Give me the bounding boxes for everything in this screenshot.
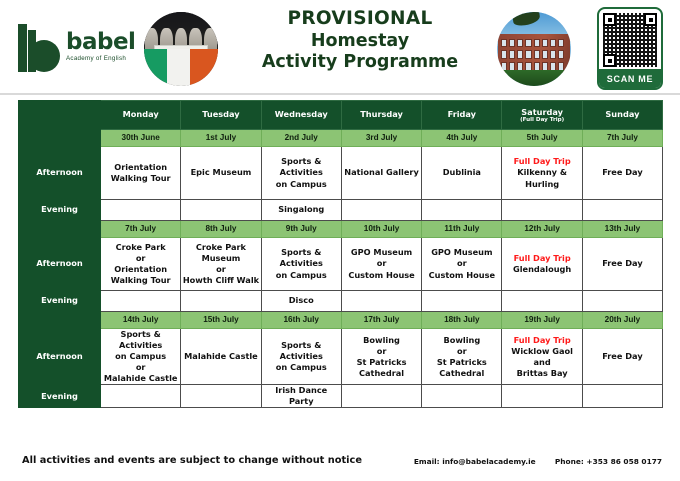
logo-name: babel [66, 30, 136, 54]
activity-cell: BowlingorSt PatricksCathedral [341, 329, 421, 385]
evening-row: EveningDisco [19, 291, 663, 312]
date-cell: 5th July [502, 130, 582, 147]
babel-logo-mark [16, 22, 66, 74]
activity-line: Orientation [101, 264, 180, 275]
date-cell: 9th July [261, 221, 341, 238]
day-label: Wednesday [275, 109, 328, 119]
day-label: Thursday [360, 109, 403, 119]
activity-line: Free Day [583, 351, 662, 362]
title-line-1: PROVISIONAL [230, 8, 490, 31]
activity-cell: Full Day TripGlendalough [502, 238, 582, 291]
activity-cell: BowlingorSt PatricksCathedral [422, 329, 502, 385]
evening-cell [502, 385, 582, 408]
day-label: Saturday [521, 107, 563, 117]
contact-info: Email: info@babelacademy.ie Phone: +353 … [414, 457, 662, 466]
date-row-spacer [19, 221, 101, 238]
activity-line: GPO Museum [422, 247, 501, 258]
day-label: Tuesday [202, 109, 239, 119]
activity-cell: Free Day [582, 329, 662, 385]
date-cell: 11th July [422, 221, 502, 238]
date-row-spacer [19, 312, 101, 329]
day-label: Friday [448, 109, 476, 119]
day-header-sunday: Sunday [582, 101, 662, 130]
activity-line: Custom House [422, 270, 501, 281]
evening-cell [341, 291, 421, 312]
table-body: 30th June1st July2nd July3rd July4th Jul… [19, 130, 663, 408]
corner-cell [19, 101, 101, 130]
date-cell: 4th July [422, 130, 502, 147]
date-cell: 17th July [341, 312, 421, 329]
babel-wordmark: babel Academy of English [66, 30, 136, 62]
afternoon-row: AfternoonCroke ParkorOrientationWalking … [19, 238, 663, 291]
date-cell: 16th July [261, 312, 341, 329]
row-label-evening: Evening [19, 291, 101, 312]
date-cell: 14th July [101, 312, 181, 329]
evening-cell [101, 291, 181, 312]
page-title: PROVISIONAL Homestay Activity Programme [230, 8, 490, 73]
page-footer: All activities and events are subject to… [0, 452, 680, 478]
day-label: Sunday [605, 109, 639, 119]
activity-cell: Full Day TripKilkenny &Hurling [502, 147, 582, 200]
activity-cell: Malahide Castle [181, 329, 261, 385]
activity-line: Epic Museum [181, 167, 260, 178]
evening-cell [582, 200, 662, 221]
evening-cell [422, 291, 502, 312]
evening-cell [101, 200, 181, 221]
activity-cell: GPO MuseumorCustom House [422, 238, 502, 291]
qr-finder-top-left-icon [603, 13, 616, 26]
activity-line: Glendalough [502, 264, 581, 275]
evening-cell [422, 385, 502, 408]
day-header-monday: Monday [101, 101, 181, 130]
activity-line: on Campus [262, 362, 341, 373]
evening-cell [582, 291, 662, 312]
header-divider [0, 93, 680, 95]
activity-line: Custom House [342, 270, 421, 281]
activity-line: or [422, 346, 501, 357]
activity-cell: Free Day [582, 238, 662, 291]
date-cell: 30th June [101, 130, 181, 147]
evening-cell [582, 385, 662, 408]
evening-cell [341, 385, 421, 408]
building-photo [497, 12, 571, 86]
disclaimer-text: All activities and events are subject to… [22, 455, 362, 466]
activity-line: Croke Park [101, 242, 180, 253]
homestay-activity-programme-page: babel Academy of English PROVISIONAL Hom… [0, 0, 680, 481]
afternoon-row: AfternoonSports & Activitieson CampusorM… [19, 329, 663, 385]
activity-line: or [342, 258, 421, 269]
day-sublabel: (Full Day Trip) [502, 117, 581, 123]
activity-line: on Campus [262, 270, 341, 281]
evening-cell: Singalong [261, 200, 341, 221]
activity-line: Brittas Bay [502, 368, 581, 379]
day-label: Monday [123, 109, 159, 119]
activity-cell: Croke ParkMuseumorHowth Cliff Walk [181, 238, 261, 291]
page-header: babel Academy of English PROVISIONAL Hom… [0, 0, 680, 96]
date-row-spacer [19, 130, 101, 147]
activity-cell: Sports & Activitieson Campus [261, 238, 341, 291]
evening-cell [502, 291, 582, 312]
date-cell: 3rd July [341, 130, 421, 147]
activity-cell: Free Day [582, 147, 662, 200]
evening-cell [341, 200, 421, 221]
students-photo [144, 12, 218, 86]
day-header-wednesday: Wednesday [261, 101, 341, 130]
title-line-3: Activity Programme [230, 52, 490, 73]
activity-line: or [342, 346, 421, 357]
activity-line: National Gallery [342, 167, 421, 178]
activity-line: Sports & Activities [262, 156, 341, 178]
activity-line: St Patricks [422, 357, 501, 368]
date-cell: 2nd July [261, 130, 341, 147]
row-label-evening: Evening [19, 200, 101, 221]
date-cell: 12th July [502, 221, 582, 238]
contact-phone[interactable]: Phone: +353 86 058 0177 [555, 457, 662, 466]
date-cell: 1st July [181, 130, 261, 147]
activity-line: St Patricks [342, 357, 421, 368]
date-cell: 10th July [341, 221, 421, 238]
date-cell: 18th July [422, 312, 502, 329]
activity-line: on Campus [101, 351, 180, 362]
activity-line: Museum [181, 253, 260, 264]
activity-line: or [101, 253, 180, 264]
activity-cell: Dublinia [422, 147, 502, 200]
evening-cell [181, 385, 261, 408]
activity-cell: GPO MuseumorCustom House [341, 238, 421, 291]
activity-line: Bowling [422, 335, 501, 346]
activity-line: Kilkenny & [502, 167, 581, 178]
activity-line: on Campus [262, 179, 341, 190]
full-day-trip-label: Full Day Trip [502, 156, 581, 167]
date-row: 14th July15th July16th July17th July18th… [19, 312, 663, 329]
qr-code-badge[interactable]: SCAN ME [597, 7, 663, 90]
activity-cell: Epic Museum [181, 147, 261, 200]
row-label-evening: Evening [19, 385, 101, 408]
date-cell: 20th July [582, 312, 662, 329]
activity-cell: National Gallery [341, 147, 421, 200]
day-header-thursday: Thursday [341, 101, 421, 130]
date-row: 30th June1st July2nd July3rd July4th Jul… [19, 130, 663, 147]
activity-line: Malahide Castle [101, 373, 180, 384]
qr-finder-top-right-icon [644, 13, 657, 26]
activity-line: Walking Tour [101, 275, 180, 286]
evening-cell [181, 291, 261, 312]
activity-cell: Croke ParkorOrientationWalking Tour [101, 238, 181, 291]
activity-line: Malahide Castle [181, 351, 260, 362]
day-header-row: Monday Tuesday Wednesday Thursday Friday [19, 101, 663, 130]
activity-cell: Sports & Activitieson CampusorMalahide C… [101, 329, 181, 385]
activity-line: Cathedral [422, 368, 501, 379]
activity-cell: Sports & Activitieson Campus [261, 329, 341, 385]
date-row: 7th July8th July9th July10th July11th Ju… [19, 221, 663, 238]
evening-cell [422, 200, 502, 221]
evening-cell [181, 200, 261, 221]
activity-line: Sports & Activities [262, 247, 341, 269]
activity-line: Dublinia [422, 167, 501, 178]
day-header-tuesday: Tuesday [181, 101, 261, 130]
activity-line: Sports & Activities [262, 340, 341, 362]
activity-cell: Full Day TripWicklow Gaol andBrittas Bay [502, 329, 582, 385]
evening-cell [101, 385, 181, 408]
activity-line: Hurling [502, 179, 581, 190]
schedule-table-wrapper: Monday Tuesday Wednesday Thursday Friday [18, 100, 662, 408]
activity-line: Free Day [583, 258, 662, 269]
logo-tagline: Academy of English [66, 55, 136, 62]
title-line-2: Homestay [230, 31, 490, 52]
day-header-friday: Friday [422, 101, 502, 130]
activity-line: Sports & Activities [101, 329, 180, 351]
afternoon-row: AfternoonOrientationWalking TourEpic Mus… [19, 147, 663, 200]
row-label-afternoon: Afternoon [19, 238, 101, 291]
activity-line: or [422, 258, 501, 269]
activity-cell: Sports & Activitieson Campus [261, 147, 341, 200]
table-head: Monday Tuesday Wednesday Thursday Friday [19, 101, 663, 130]
full-day-trip-label: Full Day Trip [502, 335, 581, 346]
activity-schedule-table: Monday Tuesday Wednesday Thursday Friday [18, 100, 663, 408]
full-day-trip-label: Full Day Trip [502, 253, 581, 264]
activity-line: or [101, 362, 180, 373]
activity-line: or [181, 264, 260, 275]
activity-line: Bowling [342, 335, 421, 346]
activity-line: Wicklow Gaol and [502, 346, 581, 368]
date-cell: 7th July [582, 130, 662, 147]
evening-cell [502, 200, 582, 221]
activity-line: Walking Tour [101, 173, 180, 184]
qr-scan-me-label: SCAN ME [599, 69, 661, 88]
date-cell: 13th July [582, 221, 662, 238]
contact-email[interactable]: Email: info@babelacademy.ie [414, 457, 536, 466]
qr-finder-bottom-left-icon [603, 54, 616, 67]
evening-cell: Irish Dance Party [261, 385, 341, 408]
row-label-afternoon: Afternoon [19, 329, 101, 385]
activity-line: Croke Park [181, 242, 260, 253]
day-header-saturday: Saturday (Full Day Trip) [502, 101, 582, 130]
evening-row: EveningSingalong [19, 200, 663, 221]
activity-line: Cathedral [342, 368, 421, 379]
row-label-afternoon: Afternoon [19, 147, 101, 200]
activity-cell: OrientationWalking Tour [101, 147, 181, 200]
activity-line: Howth Cliff Walk [181, 275, 260, 286]
activity-line: Orientation [101, 162, 180, 173]
evening-cell: Disco [261, 291, 341, 312]
date-cell: 8th July [181, 221, 261, 238]
date-cell: 7th July [101, 221, 181, 238]
date-cell: 19th July [502, 312, 582, 329]
evening-row: EveningIrish Dance Party [19, 385, 663, 408]
activity-line: GPO Museum [342, 247, 421, 258]
activity-line: Free Day [583, 167, 662, 178]
date-cell: 15th July [181, 312, 261, 329]
babel-logo: babel Academy of English [16, 22, 134, 78]
